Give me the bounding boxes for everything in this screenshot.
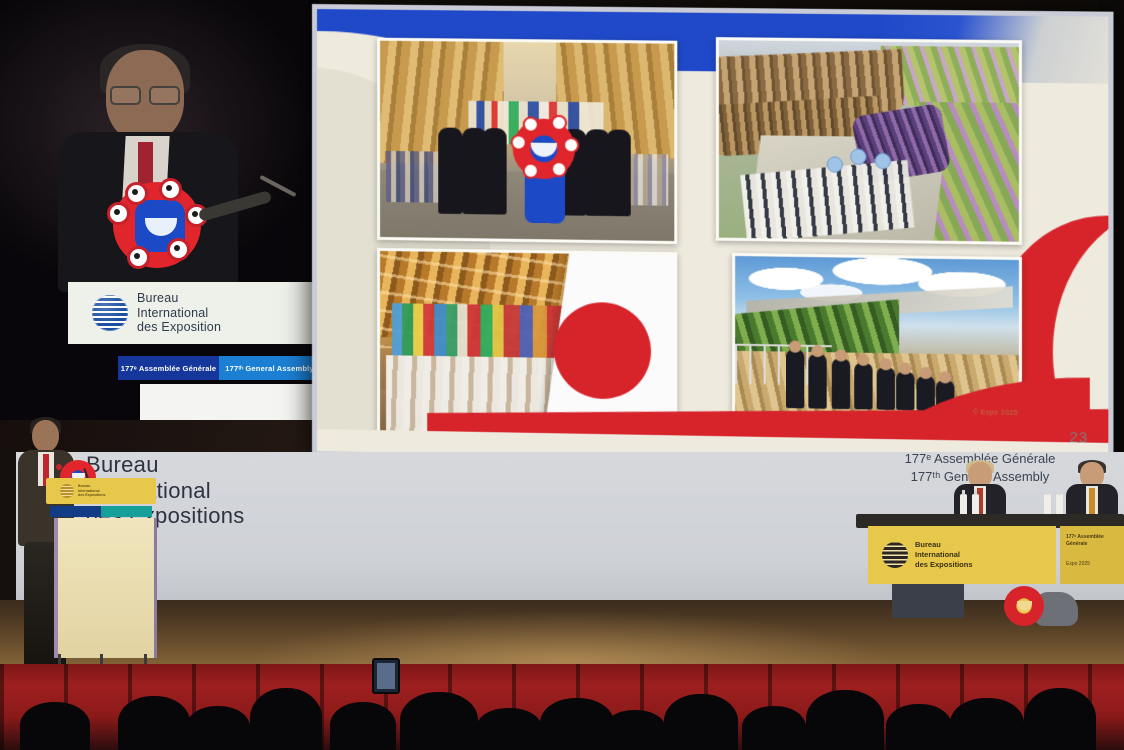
tab-english: 177ᵗʰ General Assembly xyxy=(219,356,320,380)
photo-parade-street xyxy=(377,38,677,244)
audience-head xyxy=(118,696,190,750)
table-line-1: Bureau xyxy=(915,540,973,550)
bie-globe-icon xyxy=(60,484,74,498)
audience-head xyxy=(476,708,542,750)
audience-head xyxy=(540,698,614,750)
bie-globe-icon xyxy=(92,295,128,331)
camera-feed-white-area xyxy=(140,384,320,420)
podium-tab-english xyxy=(101,506,152,517)
podium-tabs xyxy=(50,506,152,517)
auditorium-photo: Bureau International des Exposition 177ᵉ… xyxy=(0,0,1124,750)
live-speaker-head xyxy=(32,420,59,452)
audience-head xyxy=(330,702,396,750)
audience-silhouettes xyxy=(0,632,1124,750)
bie-banner-text: Bureau International des Exposition xyxy=(137,291,221,335)
main-projection-screen: © Expo 2025 23 xyxy=(312,4,1113,470)
audience-head xyxy=(950,698,1024,750)
bie-globe-icon xyxy=(882,542,908,568)
audience-head xyxy=(742,706,806,750)
audience-head xyxy=(1024,688,1096,750)
presentation-slide: © Expo 2025 23 xyxy=(317,9,1108,465)
table-mascot-icon xyxy=(1004,586,1048,628)
slide-photo-grid xyxy=(377,30,1042,442)
slide-number: 23 xyxy=(1070,429,1088,447)
table-side-logo: Expo 2025 xyxy=(1060,561,1124,567)
audience-head xyxy=(20,702,90,750)
table-side-banner: 177ᵉ Assemblée Générale Expo 2025 xyxy=(1060,526,1124,584)
speaker-podium: Bureau International des Expositions xyxy=(58,478,140,658)
podium-tab-french xyxy=(50,506,101,517)
table-bie-banner: Bureau International des Expositions xyxy=(868,526,1056,584)
tab-french: 177ᵉ Assemblée Générale xyxy=(118,356,219,380)
podium-line-3: des Expositions xyxy=(78,493,106,498)
head-table: Bureau International des Expositions 177… xyxy=(856,462,1124,642)
glasses-icon xyxy=(110,86,180,102)
delegate-2 xyxy=(1064,462,1120,518)
podium-banner-text: Bureau International des Expositions xyxy=(78,484,106,499)
bie-line-2: International xyxy=(137,306,221,321)
podium-banner: Bureau International des Expositions xyxy=(46,478,156,504)
audience-head xyxy=(186,706,250,750)
camera-feed-projection: Bureau International des Exposition 177ᵉ… xyxy=(0,0,320,420)
audience-head xyxy=(806,690,884,750)
camera-feed-assembly-tabs: 177ᵉ Assemblée Générale 177ᵗʰ General As… xyxy=(118,356,320,380)
smartphone-icon xyxy=(372,658,400,694)
audience-head xyxy=(886,704,952,750)
audience-head xyxy=(400,692,478,750)
table-base xyxy=(892,584,964,618)
audience-head xyxy=(664,694,738,750)
bie-line-1: Bureau xyxy=(137,291,221,306)
table-banner-text: Bureau International des Expositions xyxy=(915,540,973,569)
bie-line-3: des Exposition xyxy=(137,320,221,335)
audience-head xyxy=(250,688,322,750)
screen-bezel: © Expo 2025 23 xyxy=(312,4,1113,470)
table-line-2: International xyxy=(915,550,973,560)
photo-credit: © Expo 2025 xyxy=(973,409,1018,417)
audience-head xyxy=(604,710,666,750)
table-side-sign: 177ᵉ Assemblée Générale xyxy=(1060,526,1124,547)
projected-line-1: Bureau xyxy=(86,452,386,478)
table-line-3: des Expositions xyxy=(915,560,973,570)
camera-feed-bie-banner: Bureau International des Exposition xyxy=(68,282,320,344)
myaku-myaku-mascot-icon xyxy=(509,113,580,224)
myaku-myaku-mascot-icon xyxy=(105,178,217,278)
photo-grand-ring-procession xyxy=(716,37,1022,245)
